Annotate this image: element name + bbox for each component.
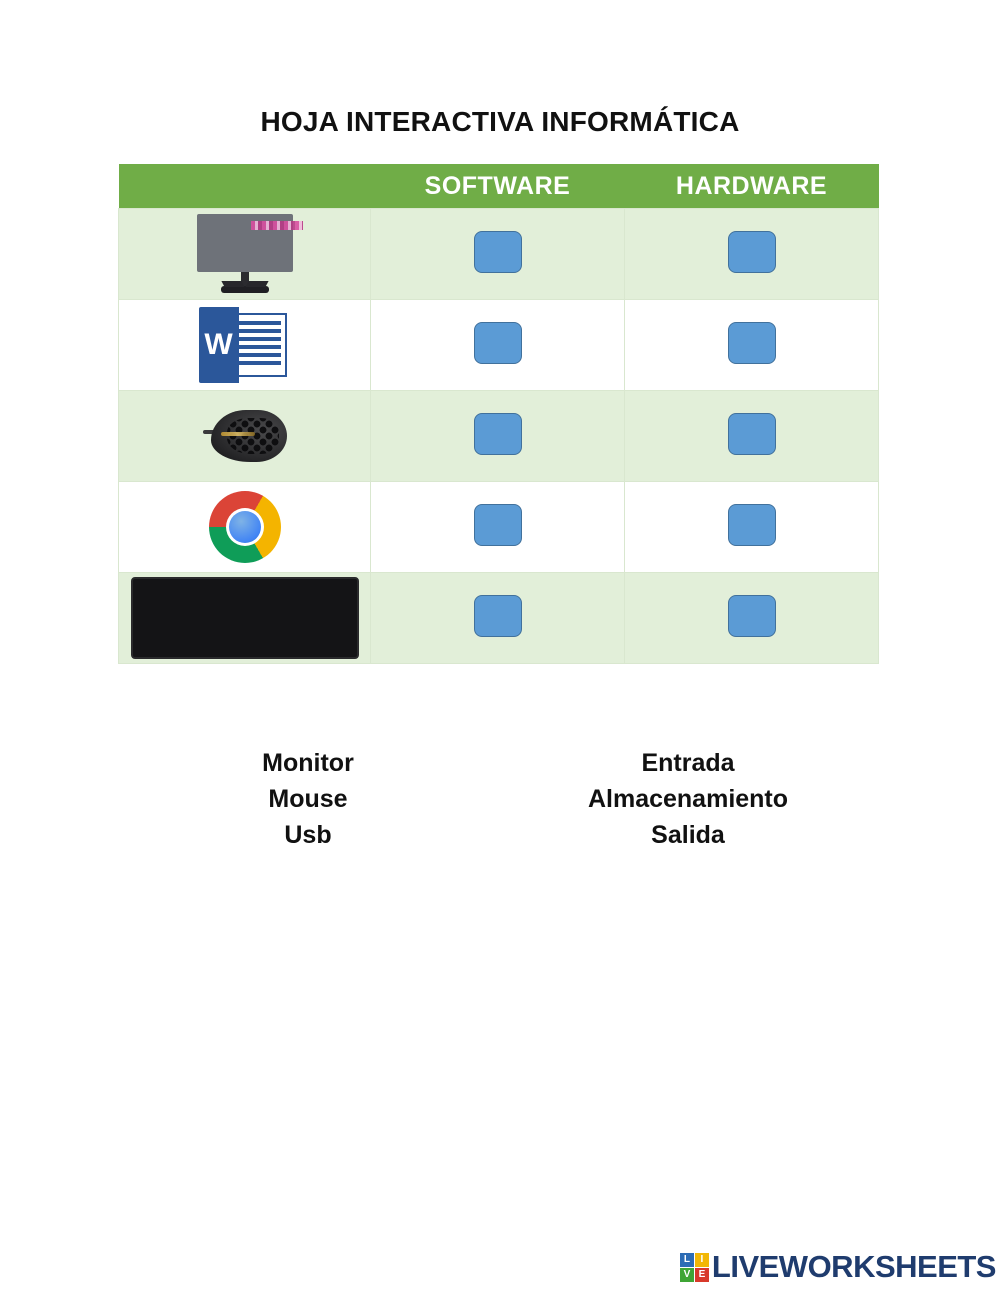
- logo-tile-i: I: [695, 1253, 709, 1267]
- checkbox-software-mouse[interactable]: [474, 413, 522, 455]
- checkbox-hardware-keyboard[interactable]: [728, 595, 776, 637]
- word-bank-item: Mouse: [118, 781, 498, 817]
- checkbox-software-monitor[interactable]: [474, 231, 522, 273]
- microsoft-word-icon: [199, 307, 291, 383]
- word-bank-column-devices: Monitor Mouse Usb: [118, 745, 498, 853]
- liveworksheets-mark-icon: L I V E: [680, 1253, 709, 1282]
- software-cell-monitor: [371, 209, 625, 300]
- software-cell-chrome: [371, 482, 625, 573]
- table-row: [119, 300, 879, 391]
- hardware-cell-chrome: [625, 482, 879, 573]
- software-cell-word: [371, 300, 625, 391]
- hardware-cell-word: [625, 300, 879, 391]
- word-bank-item: Monitor: [118, 745, 498, 781]
- column-header-item: [119, 164, 371, 209]
- column-header-hardware: HARDWARE: [625, 164, 879, 209]
- word-bank: Monitor Mouse Usb Entrada Almacenamiento…: [118, 745, 878, 853]
- checkbox-software-word[interactable]: [474, 322, 522, 364]
- classification-table: SOFTWARE HARDWARE: [118, 164, 879, 664]
- software-cell-mouse: [371, 391, 625, 482]
- page-title: HOJA INTERACTIVA INFORMÁTICA: [0, 106, 1000, 138]
- checkbox-hardware-chrome[interactable]: [728, 504, 776, 546]
- liveworksheets-wordmark: LIVEWORKSHEETS: [712, 1249, 996, 1285]
- hardware-cell-keyboard: [625, 573, 879, 664]
- column-header-software: SOFTWARE: [371, 164, 625, 209]
- google-chrome-icon: [209, 491, 281, 563]
- item-cell-keyboard: [119, 573, 371, 664]
- checkbox-hardware-word[interactable]: [728, 322, 776, 364]
- table-header-row: SOFTWARE HARDWARE: [119, 164, 879, 209]
- software-cell-keyboard: [371, 573, 625, 664]
- table-row: [119, 209, 879, 300]
- liveworksheets-logo: L I V E LIVEWORKSHEETS: [680, 1249, 996, 1285]
- mouse-icon: [203, 410, 287, 462]
- word-bank-item: Almacenamiento: [498, 781, 878, 817]
- checkbox-software-chrome[interactable]: [474, 504, 522, 546]
- word-bank-item: Salida: [498, 817, 878, 853]
- checkbox-hardware-mouse[interactable]: [728, 413, 776, 455]
- item-cell-word: [119, 300, 371, 391]
- checkbox-hardware-monitor[interactable]: [728, 231, 776, 273]
- hardware-cell-monitor: [625, 209, 879, 300]
- keyboard-icon: [131, 577, 359, 659]
- item-cell-mouse: [119, 391, 371, 482]
- monitor-icon: [197, 214, 293, 294]
- checkbox-software-keyboard[interactable]: [474, 595, 522, 637]
- table-row: [119, 482, 879, 573]
- table-row: [119, 391, 879, 482]
- table-body: [119, 209, 879, 664]
- hardware-cell-mouse: [625, 391, 879, 482]
- word-bank-item: Usb: [118, 817, 498, 853]
- logo-tile-e: E: [695, 1268, 709, 1282]
- table-row: [119, 573, 879, 664]
- item-cell-chrome: [119, 482, 371, 573]
- word-bank-item: Entrada: [498, 745, 878, 781]
- table-header: SOFTWARE HARDWARE: [119, 164, 879, 209]
- word-bank-column-functions: Entrada Almacenamiento Salida: [498, 745, 878, 853]
- item-cell-monitor: [119, 209, 371, 300]
- logo-tile-v: V: [680, 1268, 694, 1282]
- logo-tile-l: L: [680, 1253, 694, 1267]
